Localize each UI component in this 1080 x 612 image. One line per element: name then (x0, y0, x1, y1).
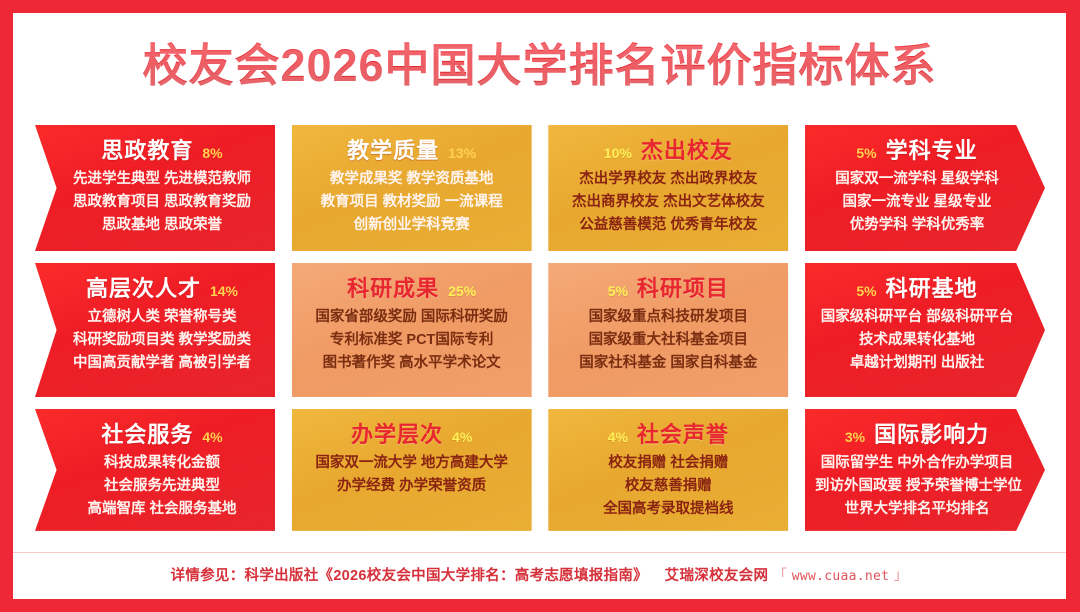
indicator-card-keyan-chengguo[interactable]: 科研成果 25% 国家省部级奖励 国际科研奖励 专利标准奖 PCT国际专利 图书… (292, 263, 532, 397)
card-items: 立德树人类 荣誉称号类 科研奖励项目类 教学奖励类 中国高贡献学者 高被引学者 (45, 307, 265, 375)
indicator-row: 社会服务 4% 科技成果转化金额 社会服务先进典型 高端智库 社会服务基地 办学… (35, 409, 1045, 531)
footer-text: 详情参见：科学出版社《2026校友会中国大学排名：高考志愿填报指南》 艾瑞深校友… (171, 564, 909, 585)
card-header: 社会服务 4% (45, 421, 265, 449)
card-header: 4% 社会声誉 (558, 421, 778, 449)
card-items: 教学成果奖 教学资质基地 教育项目 教材奖励 一流课程 创新创业学科竞赛 (302, 169, 522, 237)
card-header: 办学层次 4% (302, 421, 522, 449)
card-weight-badge: 5% (608, 283, 628, 299)
card-weight-badge: 3% (845, 429, 865, 445)
card-items: 国家省部级奖励 国际科研奖励 专利标准奖 PCT国际专利 图书著作奖 高水平学术… (302, 307, 522, 375)
card-item: 国家级科研平台 部级科研平台 (815, 307, 1019, 328)
card-title: 办学层次 (351, 421, 443, 449)
card-item: 思政教育项目 思政教育奖励 (59, 192, 265, 213)
card-item: 国家一流专业 星级专业 (815, 192, 1019, 213)
card-title: 社会服务 (101, 421, 193, 449)
card-items: 科技成果转化金额 社会服务先进典型 高端智库 社会服务基地 (45, 453, 265, 521)
card-item: 校友慈善捐赠 (558, 476, 778, 497)
card-item: 教学成果奖 教学资质基地 (302, 169, 522, 190)
footer-source: 详情参见：科学出版社《2026校友会中国大学排名：高考志愿填报指南》 (171, 568, 648, 584)
card-header: 5% 科研项目 (558, 275, 778, 303)
card-items: 杰出学界校友 杰出政界校友 杰出商界校友 杰出文艺体校友 公益慈善模范 优秀青年… (558, 169, 778, 237)
card-header: 科研成果 25% (302, 275, 522, 303)
card-item: 杰出学界校友 杰出政界校友 (558, 169, 778, 190)
card-item: 科技成果转化金额 (59, 453, 265, 474)
card-items: 校友捐赠 社会捐赠 校友慈善捐赠 全国高考录取提档线 (558, 453, 778, 521)
card-items: 国际留学生 中外合作办学项目 到访外国政要 授予荣誉博士学位 世界大学排名平均排… (815, 453, 1035, 521)
card-weight-badge: 14% (210, 283, 238, 299)
card-item: 国家双一流学科 星级学科 (815, 169, 1019, 190)
card-item: 到访外国政要 授予荣誉博士学位 (815, 476, 1019, 497)
indicator-card-guoji-yingxiangli[interactable]: 3% 国际影响力 国际留学生 中外合作办学项目 到访外国政要 授予荣誉博士学位 … (805, 409, 1045, 531)
card-item: 国家省部级奖励 国际科研奖励 (302, 307, 522, 328)
poster-inner: 校友会2026中国大学排名评价指标体系 思政教育 8% 先进学生典型 先进模范教… (13, 13, 1066, 599)
card-header: 3% 国际影响力 (815, 421, 1035, 449)
indicator-row: 高层次人才 14% 立德树人类 荣誉称号类 科研奖励项目类 教学奖励类 中国高贡… (35, 263, 1045, 397)
card-items: 先进学生典型 先进模范教师 思政教育项目 思政教育奖励 思政基地 思政荣誉 (45, 169, 265, 237)
card-title: 社会声誉 (637, 421, 729, 449)
indicator-card-sizheng-jiaoyu[interactable]: 思政教育 8% 先进学生典型 先进模范教师 思政教育项目 思政教育奖励 思政基地… (35, 125, 275, 251)
card-title: 高层次人才 (86, 275, 201, 303)
card-header: 高层次人才 14% (45, 275, 265, 303)
card-weight-badge: 13% (448, 145, 476, 161)
card-item: 科研奖励项目类 教学奖励类 (59, 330, 265, 351)
indicator-card-jiaoxue-zhiliang[interactable]: 教学质量 13% 教学成果奖 教学资质基地 教育项目 教材奖励 一流课程 创新创… (292, 125, 532, 251)
card-item: 杰出商界校友 杰出文艺体校友 (558, 192, 778, 213)
card-item: 立德树人类 荣誉称号类 (59, 307, 265, 328)
poster-frame: 校友会2026中国大学排名评价指标体系 思政教育 8% 先进学生典型 先进模范教… (0, 0, 1080, 612)
card-items: 国家级科研平台 部级科研平台 技术成果转化基地 卓越计划期刊 出版社 (815, 307, 1035, 375)
card-item: 创新创业学科竞赛 (302, 215, 522, 236)
card-weight-badge: 8% (202, 145, 222, 161)
footer-bracket-close: 」 (894, 568, 909, 584)
indicator-card-banxue-cengci[interactable]: 办学层次 4% 国家双一流大学 地方高建大学 办学经费 办学荣誉资质 (292, 409, 532, 531)
card-item: 国家级重点科技研发项目 (558, 307, 778, 328)
card-title: 学科专业 (886, 137, 978, 165)
footer-url[interactable]: www.cuaa.net (792, 569, 890, 584)
card-item: 国家社科基金 国家自科基金 (558, 353, 778, 374)
card-item: 专利标准奖 PCT国际专利 (302, 330, 522, 351)
card-weight-badge: 4% (608, 429, 628, 445)
card-item: 中国高贡献学者 高被引学者 (59, 353, 265, 374)
card-header: 5% 科研基地 (815, 275, 1035, 303)
card-weight-badge: 5% (856, 283, 876, 299)
card-item: 优势学科 学科优秀率 (815, 215, 1019, 236)
card-header: 10% 杰出校友 (558, 137, 778, 165)
card-title: 杰出校友 (641, 137, 733, 165)
card-items: 国家双一流学科 星级学科 国家一流专业 星级专业 优势学科 学科优秀率 (815, 169, 1035, 237)
card-item: 公益慈善模范 优秀青年校友 (558, 215, 778, 236)
card-item: 先进学生典型 先进模范教师 (59, 169, 265, 190)
indicator-card-shehui-shengyu[interactable]: 4% 社会声誉 校友捐赠 社会捐赠 校友慈善捐赠 全国高考录取提档线 (548, 409, 788, 531)
title-area: 校友会2026中国大学排名评价指标体系 (13, 41, 1066, 91)
indicator-card-shehui-fuwu[interactable]: 社会服务 4% 科技成果转化金额 社会服务先进典型 高端智库 社会服务基地 (35, 409, 275, 531)
footer-bracket-open: 「 (773, 568, 788, 584)
card-weight-badge: 4% (202, 429, 222, 445)
card-items: 国家级重点科技研发项目 国家级重大社科基金项目 国家社科基金 国家自科基金 (558, 307, 778, 375)
card-item: 教育项目 教材奖励 一流课程 (302, 192, 522, 213)
indicator-card-xueke-zhuanye[interactable]: 5% 学科专业 国家双一流学科 星级学科 国家一流专业 星级专业 优势学科 学科… (805, 125, 1045, 251)
card-item: 办学经费 办学荣誉资质 (302, 476, 522, 497)
card-items: 国家双一流大学 地方高建大学 办学经费 办学荣誉资质 (302, 453, 522, 498)
indicator-card-keyan-xiangmu[interactable]: 5% 科研项目 国家级重点科技研发项目 国家级重大社科基金项目 国家社科基金 国… (548, 263, 788, 397)
page-title: 校友会2026中国大学排名评价指标体系 (142, 41, 936, 91)
card-item: 国家双一流大学 地方高建大学 (302, 453, 522, 474)
card-item: 图书著作奖 高水平学术论文 (302, 353, 522, 374)
card-item: 卓越计划期刊 出版社 (815, 353, 1019, 374)
card-weight-badge: 4% (452, 429, 472, 445)
footer-org: 艾瑞深校友会网 (665, 568, 769, 584)
indicator-card-keyan-jidi[interactable]: 5% 科研基地 国家级科研平台 部级科研平台 技术成果转化基地 卓越计划期刊 出… (805, 263, 1045, 397)
card-item: 国际留学生 中外合作办学项目 (815, 453, 1019, 474)
card-header: 教学质量 13% (302, 137, 522, 165)
card-item: 社会服务先进典型 (59, 476, 265, 497)
card-item: 国家级重大社科基金项目 (558, 330, 778, 351)
indicator-card-gaocengci-rencai[interactable]: 高层次人才 14% 立德树人类 荣誉称号类 科研奖励项目类 教学奖励类 中国高贡… (35, 263, 275, 397)
card-item: 高端智库 社会服务基地 (59, 499, 265, 520)
card-weight-badge: 10% (604, 145, 632, 161)
footer: 详情参见：科学出版社《2026校友会中国大学排名：高考志愿填报指南》 艾瑞深校友… (13, 552, 1066, 585)
card-item: 校友捐赠 社会捐赠 (558, 453, 778, 474)
card-item: 技术成果转化基地 (815, 330, 1019, 351)
card-item: 思政基地 思政荣誉 (59, 215, 265, 236)
indicator-row: 思政教育 8% 先进学生典型 先进模范教师 思政教育项目 思政教育奖励 思政基地… (35, 125, 1045, 251)
card-weight-badge: 5% (856, 145, 876, 161)
card-header: 思政教育 8% (45, 137, 265, 165)
card-item: 全国高考录取提档线 (558, 499, 778, 520)
card-title: 科研成果 (347, 275, 439, 303)
card-title: 思政教育 (101, 137, 193, 165)
card-item: 世界大学排名平均排名 (815, 499, 1019, 520)
card-title: 教学质量 (347, 137, 439, 165)
indicator-grid: 思政教育 8% 先进学生典型 先进模范教师 思政教育项目 思政教育奖励 思政基地… (35, 125, 1045, 531)
card-weight-badge: 25% (448, 283, 476, 299)
card-header: 5% 学科专业 (815, 137, 1035, 165)
indicator-card-jiechu-xiaoyou[interactable]: 10% 杰出校友 杰出学界校友 杰出政界校友 杰出商界校友 杰出文艺体校友 公益… (548, 125, 788, 251)
card-title: 国际影响力 (874, 421, 989, 449)
card-title: 科研项目 (637, 275, 729, 303)
card-title: 科研基地 (886, 275, 978, 303)
